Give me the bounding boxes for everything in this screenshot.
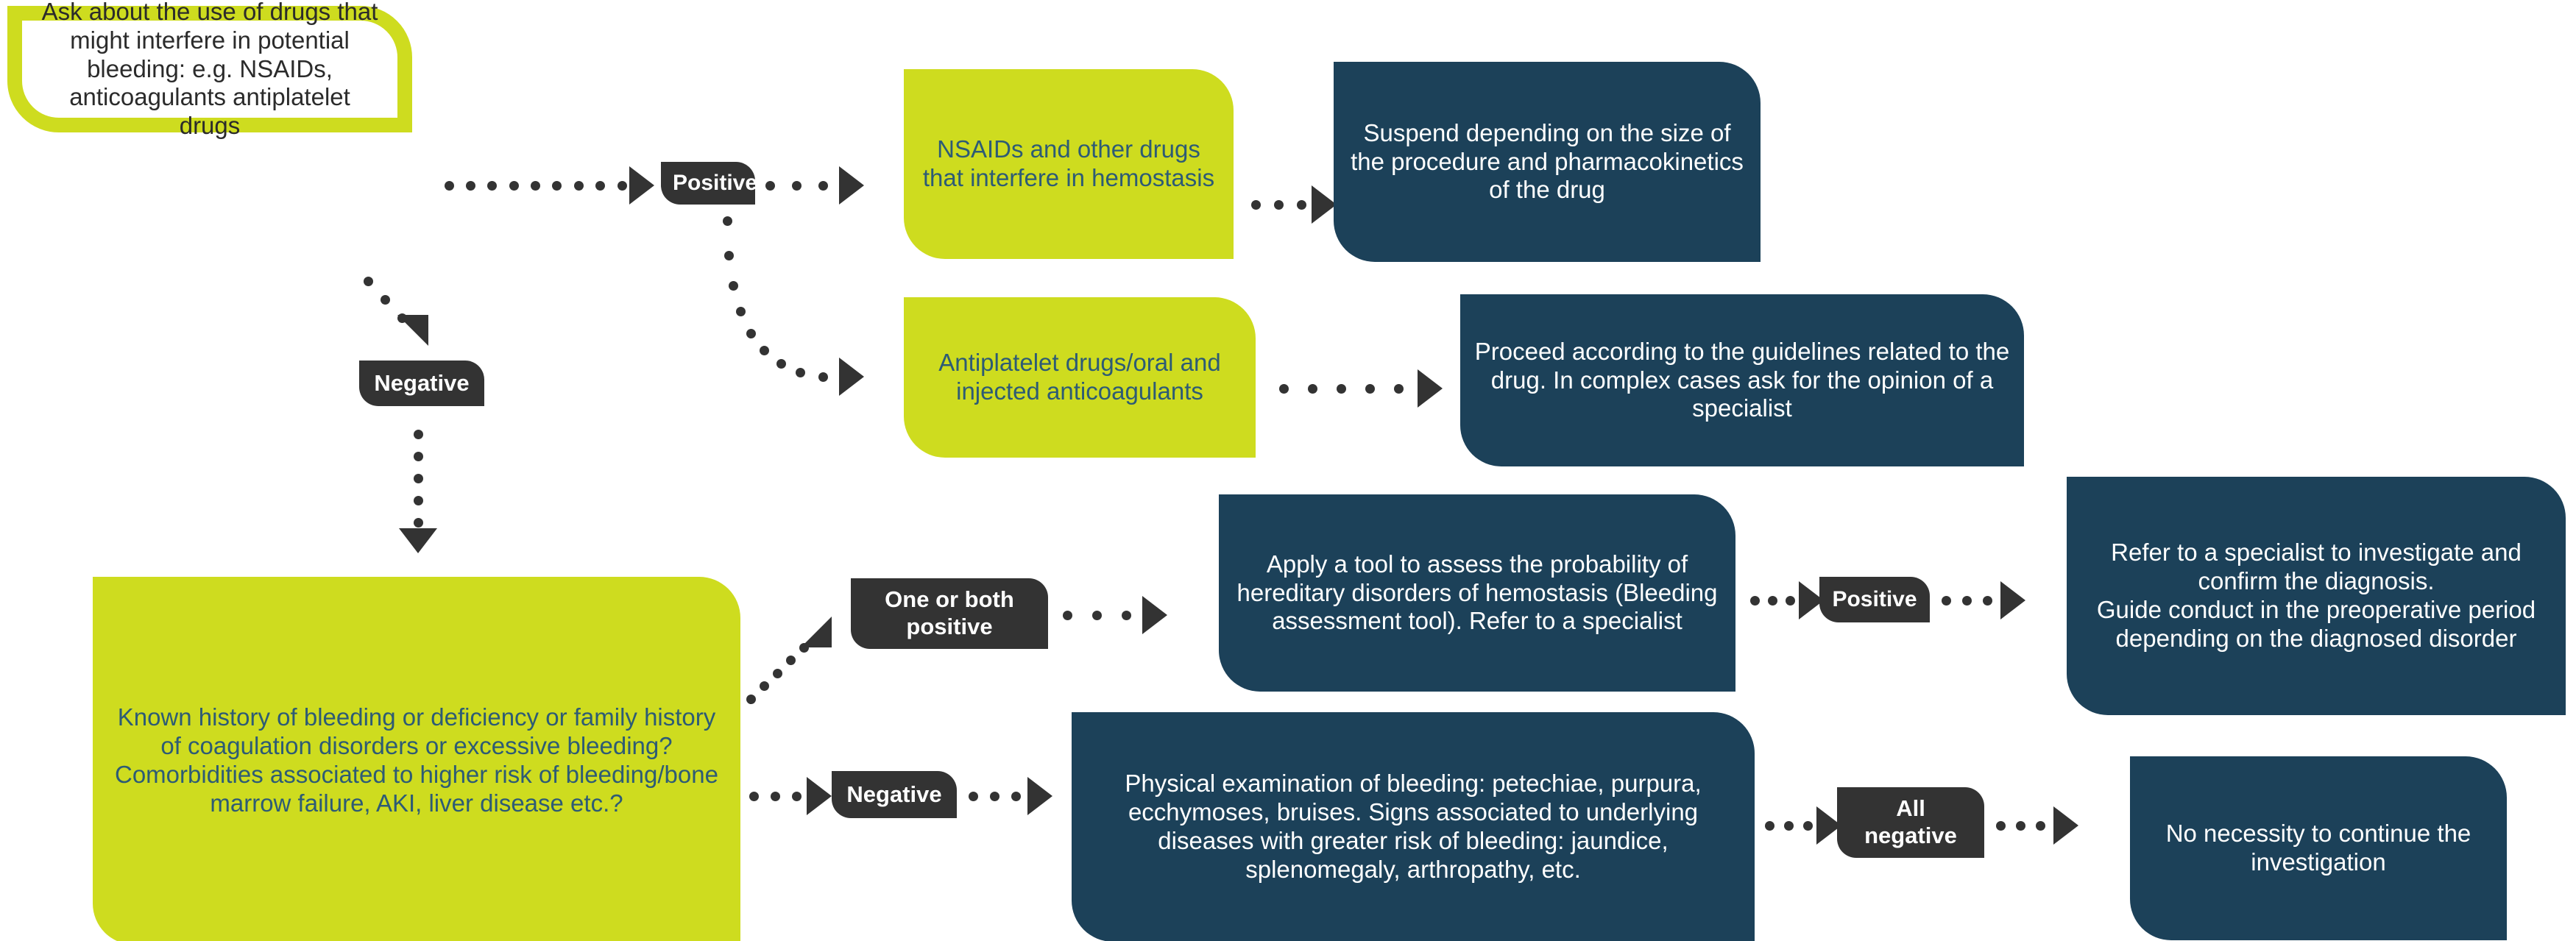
connector-dot (414, 496, 423, 505)
connector-dot (574, 181, 584, 191)
badge-positive-1-label: Positive (661, 168, 755, 197)
node-physical-examination[interactable]: Physical examination of bleeding: petech… (1072, 712, 1755, 941)
node-start-question-label: Ask about the use of drugs that might in… (22, 0, 397, 143)
connector-dot (445, 181, 454, 191)
connector-dot (1063, 611, 1072, 620)
connector-dot (760, 681, 769, 691)
badge-one-or-both-positive[interactable]: One or both positive (851, 578, 1048, 649)
node-physical-examination-label: Physical examination of bleeding: petech… (1072, 768, 1755, 886)
connector-dot (818, 181, 828, 191)
arrowhead-icon (1312, 185, 1337, 224)
arrowhead-icon (2000, 581, 2025, 619)
arrowhead-icon (839, 358, 864, 396)
connector-dot (1122, 611, 1131, 620)
connector-dot (1803, 821, 1813, 831)
connector-dot (2036, 821, 2045, 831)
connector-dot (1768, 596, 1777, 606)
node-no-necessity-label: No necessity to continue the investigati… (2130, 818, 2507, 878)
connector-dot (1765, 821, 1774, 831)
arrowhead-icon (1418, 369, 1443, 408)
connector-dot (1996, 821, 2006, 831)
connector-dot (1750, 596, 1760, 606)
connector-dot (414, 518, 423, 528)
connector-dot (771, 792, 780, 801)
node-suspend-drug[interactable]: Suspend depending on the size of the pro… (1334, 62, 1761, 262)
node-nsaids-interfere-label: NSAIDs and other drugs that interfere in… (904, 134, 1234, 194)
connector-dot (1092, 611, 1102, 620)
connector-dot (509, 181, 519, 191)
node-apply-bleeding-tool-label: Apply a tool to assess the probability o… (1219, 549, 1735, 638)
node-history-question-label: Known history of bleeding or deficiency … (93, 702, 740, 820)
connector-dot (466, 181, 475, 191)
arrowhead-icon (1142, 596, 1167, 634)
connector-dot (1784, 821, 1794, 831)
node-suspend-drug-label: Suspend depending on the size of the pro… (1334, 118, 1761, 207)
connector-dot (773, 669, 782, 678)
connector-dot (1308, 384, 1317, 394)
connector-dot (792, 792, 802, 801)
connector-dot (381, 295, 390, 305)
connector-dot (818, 372, 828, 382)
flowchart-canvas: Ask about the use of drugs that might in… (0, 0, 2576, 941)
connector-dot (1942, 596, 1951, 606)
connector-dot (1962, 596, 1972, 606)
connector-dot (792, 181, 802, 191)
node-apply-bleeding-tool[interactable]: Apply a tool to assess the probability o… (1219, 494, 1735, 692)
connector-dot (799, 643, 809, 653)
connector-dot (397, 313, 407, 323)
node-refer-specialist-label: Refer to a specialist to investigate and… (2067, 537, 2566, 655)
badge-all-negative-label: All negative (1837, 794, 1984, 851)
badge-one-or-both-positive-label: One or both positive (851, 585, 1048, 642)
connector-dot (969, 792, 978, 801)
badge-negative-2-label: Negative (832, 780, 957, 810)
arrowhead-icon (399, 528, 437, 553)
connector-dot (724, 251, 734, 260)
connector-dot (1279, 384, 1289, 394)
node-history-question[interactable]: Known history of bleeding or deficiency … (93, 577, 740, 941)
arrowhead-icon (629, 166, 654, 205)
badge-negative-2[interactable]: Negative (832, 771, 957, 818)
connector-dot (531, 181, 540, 191)
arrowhead-icon (801, 617, 832, 647)
badge-positive-2[interactable]: Positive (1819, 577, 1930, 622)
connector-dot (1786, 596, 1795, 606)
connector-dot (746, 695, 756, 704)
connector-dot (746, 329, 756, 338)
connector-dot (736, 307, 746, 316)
connector-dot (760, 346, 769, 355)
arrowhead-icon (2053, 806, 2078, 845)
connector-dot (1297, 200, 1306, 210)
node-antiplatelet-anticoagulants[interactable]: Antiplatelet drugs/oral and injected ant… (904, 297, 1256, 458)
connector-dot (1394, 384, 1404, 394)
connector-dot (776, 359, 786, 369)
connector-dot (414, 452, 423, 461)
connector-dot (1365, 384, 1375, 394)
node-no-necessity[interactable]: No necessity to continue the investigati… (2130, 756, 2507, 940)
connector-dot (729, 281, 738, 291)
node-refer-specialist[interactable]: Refer to a specialist to investigate and… (2067, 477, 2566, 715)
connector-dot (765, 181, 775, 191)
badge-positive-2-label: Positive (1819, 585, 1930, 614)
connector-dot (595, 181, 605, 191)
connector-dot (364, 277, 373, 286)
connector-dot (1011, 792, 1021, 801)
node-proceed-guidelines[interactable]: Proceed according to the guidelines rela… (1460, 294, 2024, 466)
connector-dot (487, 181, 497, 191)
connector-dot (1251, 200, 1261, 210)
node-nsaids-interfere[interactable]: NSAIDs and other drugs that interfere in… (904, 69, 1234, 259)
arrowhead-icon (839, 166, 864, 205)
connector-dot (618, 181, 627, 191)
arrowhead-icon (1027, 777, 1052, 815)
connector-dot (1983, 596, 1992, 606)
arrowhead-icon (807, 777, 832, 815)
connector-dot (990, 792, 999, 801)
badge-positive-1[interactable]: Positive (661, 162, 755, 205)
connector-dot (1337, 384, 1346, 394)
connector-dot (1274, 200, 1284, 210)
badge-negative-1[interactable]: Negative (359, 361, 484, 406)
node-proceed-guidelines-label: Proceed according to the guidelines rela… (1460, 336, 2024, 425)
connector-dot (552, 181, 562, 191)
badge-negative-1-label: Negative (359, 369, 484, 399)
connector-dot (723, 216, 732, 226)
connector-dot (414, 474, 423, 483)
badge-all-negative[interactable]: All negative (1837, 787, 1984, 858)
connector-dot (2016, 821, 2025, 831)
node-antiplatelet-anticoagulants-label: Antiplatelet drugs/oral and injected ant… (904, 347, 1256, 408)
connector-dot (414, 430, 423, 439)
arrowhead-icon (397, 315, 428, 346)
connector-dot (749, 792, 759, 801)
node-start-question[interactable]: Ask about the use of drugs that might in… (7, 6, 412, 132)
connector-dot (796, 368, 805, 377)
connector-dot (786, 656, 796, 665)
